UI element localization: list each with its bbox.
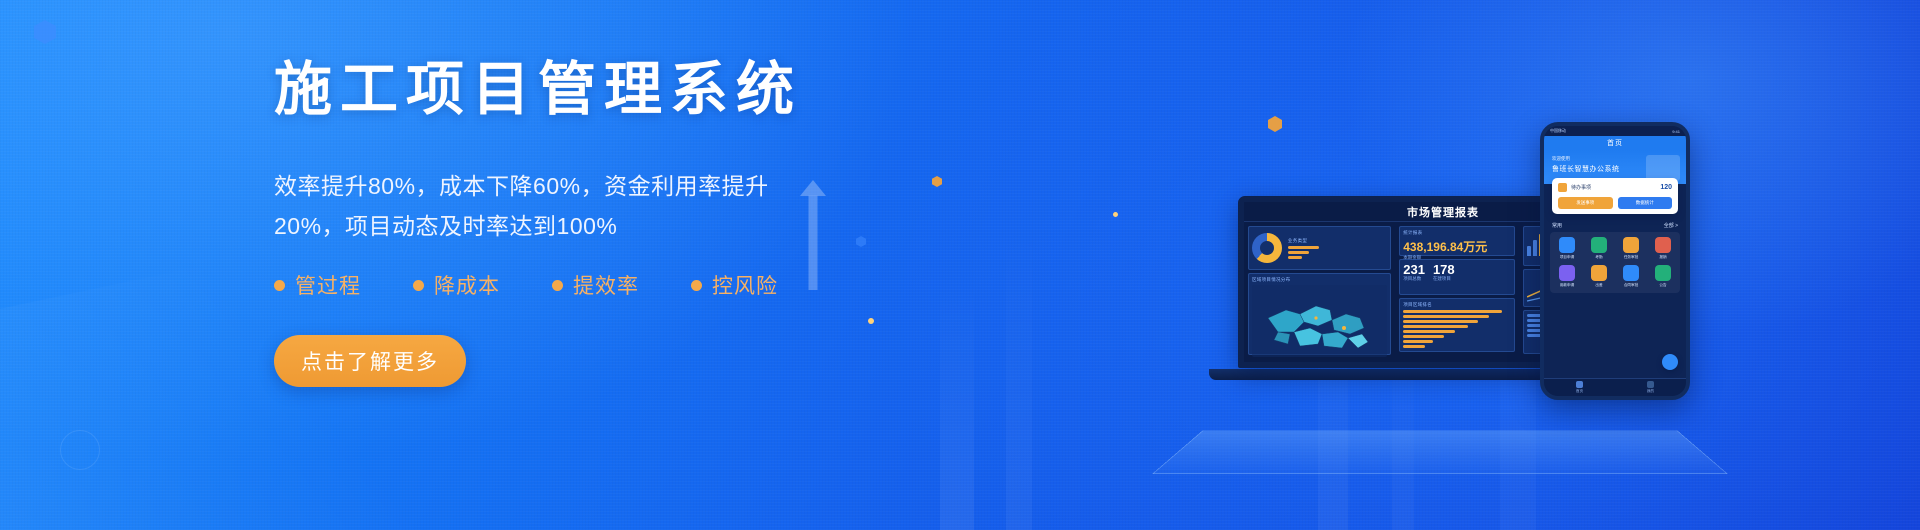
dot-decor-icon xyxy=(1113,212,1118,217)
panel-metrics: 231 项目总数 178 在建项目 xyxy=(1399,259,1514,295)
app-tile-label: 考勤 xyxy=(1595,255,1602,260)
panel-label: 区域项目情况分布 xyxy=(1252,277,1387,283)
app-tile-label: 公告 xyxy=(1659,283,1666,288)
section-label: 常用 xyxy=(1552,222,1562,229)
travel-icon xyxy=(1591,265,1607,281)
app-tile-project[interactable]: 项目申请 xyxy=(1552,237,1582,260)
app-tile-contract[interactable]: 合同审批 xyxy=(1616,265,1646,288)
app-tile-attendance[interactable]: 考勤 xyxy=(1584,237,1614,260)
app-tile-label: 项目申请 xyxy=(1560,255,1574,260)
donut-chart xyxy=(1252,233,1282,263)
bullet-dot-icon xyxy=(691,280,702,291)
horizontal-bar-chart xyxy=(1403,310,1510,348)
tab-profile[interactable]: 我的 xyxy=(1615,379,1686,396)
app-tile-label: 合同审批 xyxy=(1624,283,1638,288)
todo-left: 待办事项 xyxy=(1558,183,1591,192)
floating-action-button[interactable] xyxy=(1662,354,1678,370)
app-grid: 项目申请 考勤 任务审批 报销 用款申请 xyxy=(1550,232,1680,293)
panel-rank-chart: 项目区域排名 xyxy=(1399,298,1514,352)
app-tile-label: 出差 xyxy=(1595,283,1602,288)
feature-bullet-efficiency: 提效率 xyxy=(552,270,639,300)
metric-value: 231 xyxy=(1403,263,1425,276)
feature-bullet-label: 控风险 xyxy=(712,270,778,300)
legend-bars xyxy=(1288,246,1322,259)
panel-kpi-amount: 统计报表 438,196.84万元 本期金额 xyxy=(1399,226,1514,256)
tab-label: 我的 xyxy=(1647,389,1654,394)
notice-icon xyxy=(1655,265,1671,281)
bar-decor xyxy=(940,280,974,530)
home-icon xyxy=(1576,381,1583,388)
feature-bullet-label: 降成本 xyxy=(434,270,500,300)
app-tile-label: 任务审批 xyxy=(1624,255,1638,260)
subtitle-line-1: 效率提升80%，成本下降60%，资金利用率提升 xyxy=(274,173,769,199)
attendance-icon xyxy=(1591,237,1607,253)
bullet-dot-icon xyxy=(274,280,285,291)
panel-region-map: 区域项目情况分布 xyxy=(1248,273,1391,355)
dashboard-column-left: 业务类型 区域项目情况分布 xyxy=(1244,222,1395,362)
section-more-link[interactable]: 全部 > xyxy=(1664,222,1678,229)
subtitle-line-2: 20%，项目动态及时率达到100% xyxy=(274,213,617,239)
app-tile-notice[interactable]: 公告 xyxy=(1648,265,1678,288)
panel-business-type: 业务类型 xyxy=(1248,226,1391,270)
bullet-dot-icon xyxy=(552,280,563,291)
app-tile-reimburse[interactable]: 报销 xyxy=(1648,237,1678,260)
section-header: 常用 全部 > xyxy=(1552,222,1678,229)
feature-bullet-manage: 管过程 xyxy=(274,270,361,300)
quick-action-row: 发送事项 数据统计 xyxy=(1558,197,1672,209)
feature-bullet-label: 管过程 xyxy=(295,270,361,300)
app-tile-travel[interactable]: 出差 xyxy=(1584,265,1614,288)
app-tile-task[interactable]: 任务审批 xyxy=(1616,237,1646,260)
status-carrier: 中国移动 xyxy=(1550,128,1566,134)
app-tile-label: 报销 xyxy=(1659,255,1666,260)
task-icon xyxy=(1623,237,1639,253)
metric-value: 178 xyxy=(1433,263,1455,276)
hexagon-decor-icon xyxy=(932,176,942,187)
dashboard-column-middle: 统计报表 438,196.84万元 本期金额 231 项目总数 xyxy=(1395,222,1518,362)
metric-row: 231 项目总数 178 在建项目 xyxy=(1403,263,1510,282)
device-illustration: 市场管理报表 业务类型 xyxy=(1160,0,1920,530)
clipboard-icon xyxy=(1558,183,1567,192)
todo-card[interactable]: 待办事项 120 发送事项 数据统计 xyxy=(1552,178,1678,214)
banner-copy: 施工项目管理系统 效率提升80%，成本下降60%，资金利用率提升 20%，项目动… xyxy=(274,58,894,387)
contract-icon xyxy=(1623,265,1639,281)
panel-label: 业务类型 xyxy=(1288,238,1322,244)
china-map-chart xyxy=(1252,285,1387,357)
panel-label: 统计报表 xyxy=(1403,230,1510,236)
app-tile-label: 用款申请 xyxy=(1560,283,1574,288)
app-tile-payment[interactable]: 用款申请 xyxy=(1552,265,1582,288)
feature-bullet-risk: 控风险 xyxy=(691,270,778,300)
page-title: 施工项目管理系统 xyxy=(274,58,894,123)
device-pedestal xyxy=(1152,430,1728,474)
greeting-text: 欢迎使用 xyxy=(1552,156,1678,162)
ring-decor-icon xyxy=(60,430,100,470)
tab-label: 首页 xyxy=(1576,389,1583,394)
feature-bullet-cost: 降成本 xyxy=(413,270,500,300)
promo-banner: 施工项目管理系统 效率提升80%，成本下降60%，资金利用率提升 20%，项目动… xyxy=(0,0,1920,530)
hexagon-decor-icon xyxy=(34,20,56,44)
bar-decor xyxy=(1006,230,1032,530)
payment-icon xyxy=(1559,265,1575,281)
feature-bullet-label: 提效率 xyxy=(573,270,639,300)
banner-subtitle: 效率提升80%，成本下降60%，资金利用率提升 20%，项目动态及时率达到100… xyxy=(274,167,794,246)
dashboard-title: 市场管理报表 xyxy=(1407,204,1479,220)
kpi-value: 438,196.84万元 xyxy=(1403,238,1510,255)
bullet-dot-icon xyxy=(413,280,424,291)
phone-header-title: 首页 xyxy=(1544,136,1686,150)
send-item-button[interactable]: 发送事项 xyxy=(1558,197,1613,209)
learn-more-button[interactable]: 点击了解更多 xyxy=(274,335,466,387)
feature-bullet-list: 管过程 降成本 提效率 控风险 xyxy=(274,270,894,300)
tab-home[interactable]: 首页 xyxy=(1544,379,1615,396)
data-stats-button[interactable]: 数据统计 xyxy=(1618,197,1673,209)
todo-label: 待办事项 xyxy=(1571,184,1591,191)
phone-status-bar: 中国移动 9:41 xyxy=(1544,126,1686,136)
phone-mockup: 中国移动 9:41 首页 欢迎使用 鲁班长智慧办公系统 待办事项 120 xyxy=(1540,122,1690,400)
user-icon xyxy=(1647,381,1654,388)
project-icon xyxy=(1559,237,1575,253)
todo-count: 120 xyxy=(1660,184,1672,191)
reimburse-icon xyxy=(1655,237,1671,253)
todo-row[interactable]: 待办事项 120 xyxy=(1558,183,1672,192)
status-time: 9:41 xyxy=(1672,129,1680,134)
panel-label: 项目区域排名 xyxy=(1403,302,1510,308)
phone-tab-bar: 首页 我的 xyxy=(1544,378,1686,396)
